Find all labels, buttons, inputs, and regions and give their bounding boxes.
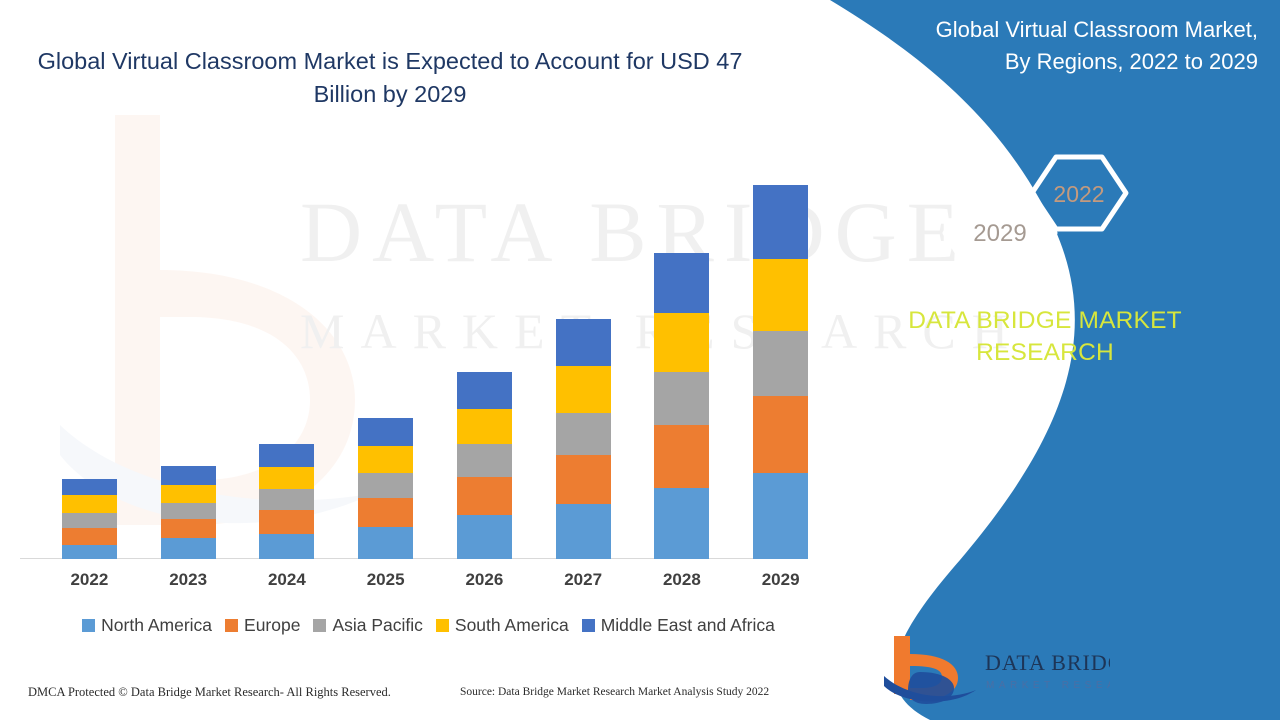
bar-segment [654,425,709,488]
bar-segment [358,446,413,473]
bar-column-2027 [539,160,627,559]
bar-segment [62,545,117,559]
bar-segment [358,498,413,527]
legend-item-asia-pacific[interactable]: Asia Pacific [313,615,422,636]
legend-item-south-america[interactable]: South America [436,615,569,636]
bar-column-2028 [638,160,726,559]
bar-segment [358,527,413,559]
panel-title: Global Virtual Classroom Market, By Regi… [858,14,1258,78]
x-axis-label-2027: 2027 [539,570,627,590]
bar-segment [753,259,808,331]
bar-segment [259,510,314,534]
bar-segment [753,473,808,559]
legend-swatch-icon [225,619,238,632]
stacked-bar [654,253,709,559]
bar-segment [753,331,808,396]
x-axis-labels: 20222023202420252026202720282029 [40,570,830,590]
brand-line2: RESEARCH [810,337,1280,369]
svg-text:2022: 2022 [1053,181,1104,207]
bar-column-2023 [144,160,232,559]
bar-column-2022 [45,160,133,559]
stacked-bar [358,418,413,559]
bar-segment [556,319,611,367]
bar-segment [753,396,808,473]
bar-segment [457,515,512,559]
bar-segment [62,513,117,528]
legend-label: Europe [244,615,300,636]
bar-chart-plot-area [40,160,830,559]
bar-segment [161,538,216,559]
legend-item-middle-east-and-africa[interactable]: Middle East and Africa [582,615,775,636]
legend-swatch-icon [313,619,326,632]
chart-legend: North AmericaEuropeAsia PacificSouth Ame… [40,615,830,636]
page-title: Global Virtual Classroom Market is Expec… [20,45,760,112]
bar-segment [259,467,314,489]
bar-segment [259,489,314,510]
brand-name: DATA BRIDGE MARKET RESEARCH [810,305,1280,370]
legend-swatch-icon [436,619,449,632]
bar-segment [358,473,413,498]
bar-segment [654,253,709,313]
stacked-bar [62,479,117,559]
bar-segment [259,444,314,467]
bar-segment [457,372,512,409]
bar-segment [358,418,413,446]
bar-segment [654,488,709,559]
x-axis-label-2022: 2022 [45,570,133,590]
svg-text:2029: 2029 [973,220,1026,247]
footer-copyright: DMCA Protected © Data Bridge Market Rese… [28,685,391,700]
bar-segment [556,366,611,412]
legend-label: Middle East and Africa [601,615,775,636]
stacked-bar [457,372,512,559]
bar-column-2025 [342,160,430,559]
x-axis-label-2025: 2025 [342,570,430,590]
stacked-bar [259,444,314,559]
legend-swatch-icon [82,619,95,632]
bar-segment [161,466,216,485]
bar-segment [259,534,314,559]
data-bridge-logo: DATA BRIDGE MARKET RESEARCH [880,628,1110,708]
bar-segment [161,519,216,538]
bar-segment [62,528,117,545]
panel-title-line1: Global Virtual Classroom Market, [858,14,1258,46]
svg-text:MARKET RESEARCH: MARKET RESEARCH [986,680,1110,691]
legend-label: Asia Pacific [332,615,422,636]
panel-title-line2: By Regions, 2022 to 2029 [858,46,1258,78]
legend-label: North America [101,615,212,636]
footer-source: Source: Data Bridge Market Research Mark… [460,686,769,698]
bar-column-2026 [440,160,528,559]
x-axis-label-2023: 2023 [144,570,232,590]
x-axis-label-2026: 2026 [440,570,528,590]
bar-segment [753,185,808,259]
svg-text:DATA BRIDGE: DATA BRIDGE [985,650,1110,675]
bar-segment [654,372,709,425]
right-panel: Global Virtual Classroom Market, By Regi… [810,0,1280,720]
x-axis-label-2028: 2028 [638,570,726,590]
bar-segment [161,503,216,519]
bar-segment [457,409,512,445]
stacked-bar [556,319,611,559]
bar-segment [556,455,611,504]
stacked-bar [161,466,216,559]
bar-segment [62,495,117,513]
bar-segment [556,504,611,559]
bar-segment [457,477,512,515]
legend-item-europe[interactable]: Europe [225,615,300,636]
hexagon-badges: 2029 2022 [810,150,1280,300]
bar-segment [654,313,709,372]
bar-column-2024 [243,160,331,559]
legend-label: South America [455,615,569,636]
bar-segment [457,444,512,477]
x-axis-label-2024: 2024 [243,570,331,590]
infographic-canvas: DATA BRIDGE MARKET RESEARCH Global Virtu… [0,0,1280,720]
bar-segment [62,479,117,495]
legend-item-north-america[interactable]: North America [82,615,212,636]
stacked-bar [753,185,808,559]
bar-segment [161,485,216,503]
brand-line1: DATA BRIDGE MARKET [810,305,1280,337]
bar-segment [556,413,611,455]
legend-swatch-icon [582,619,595,632]
